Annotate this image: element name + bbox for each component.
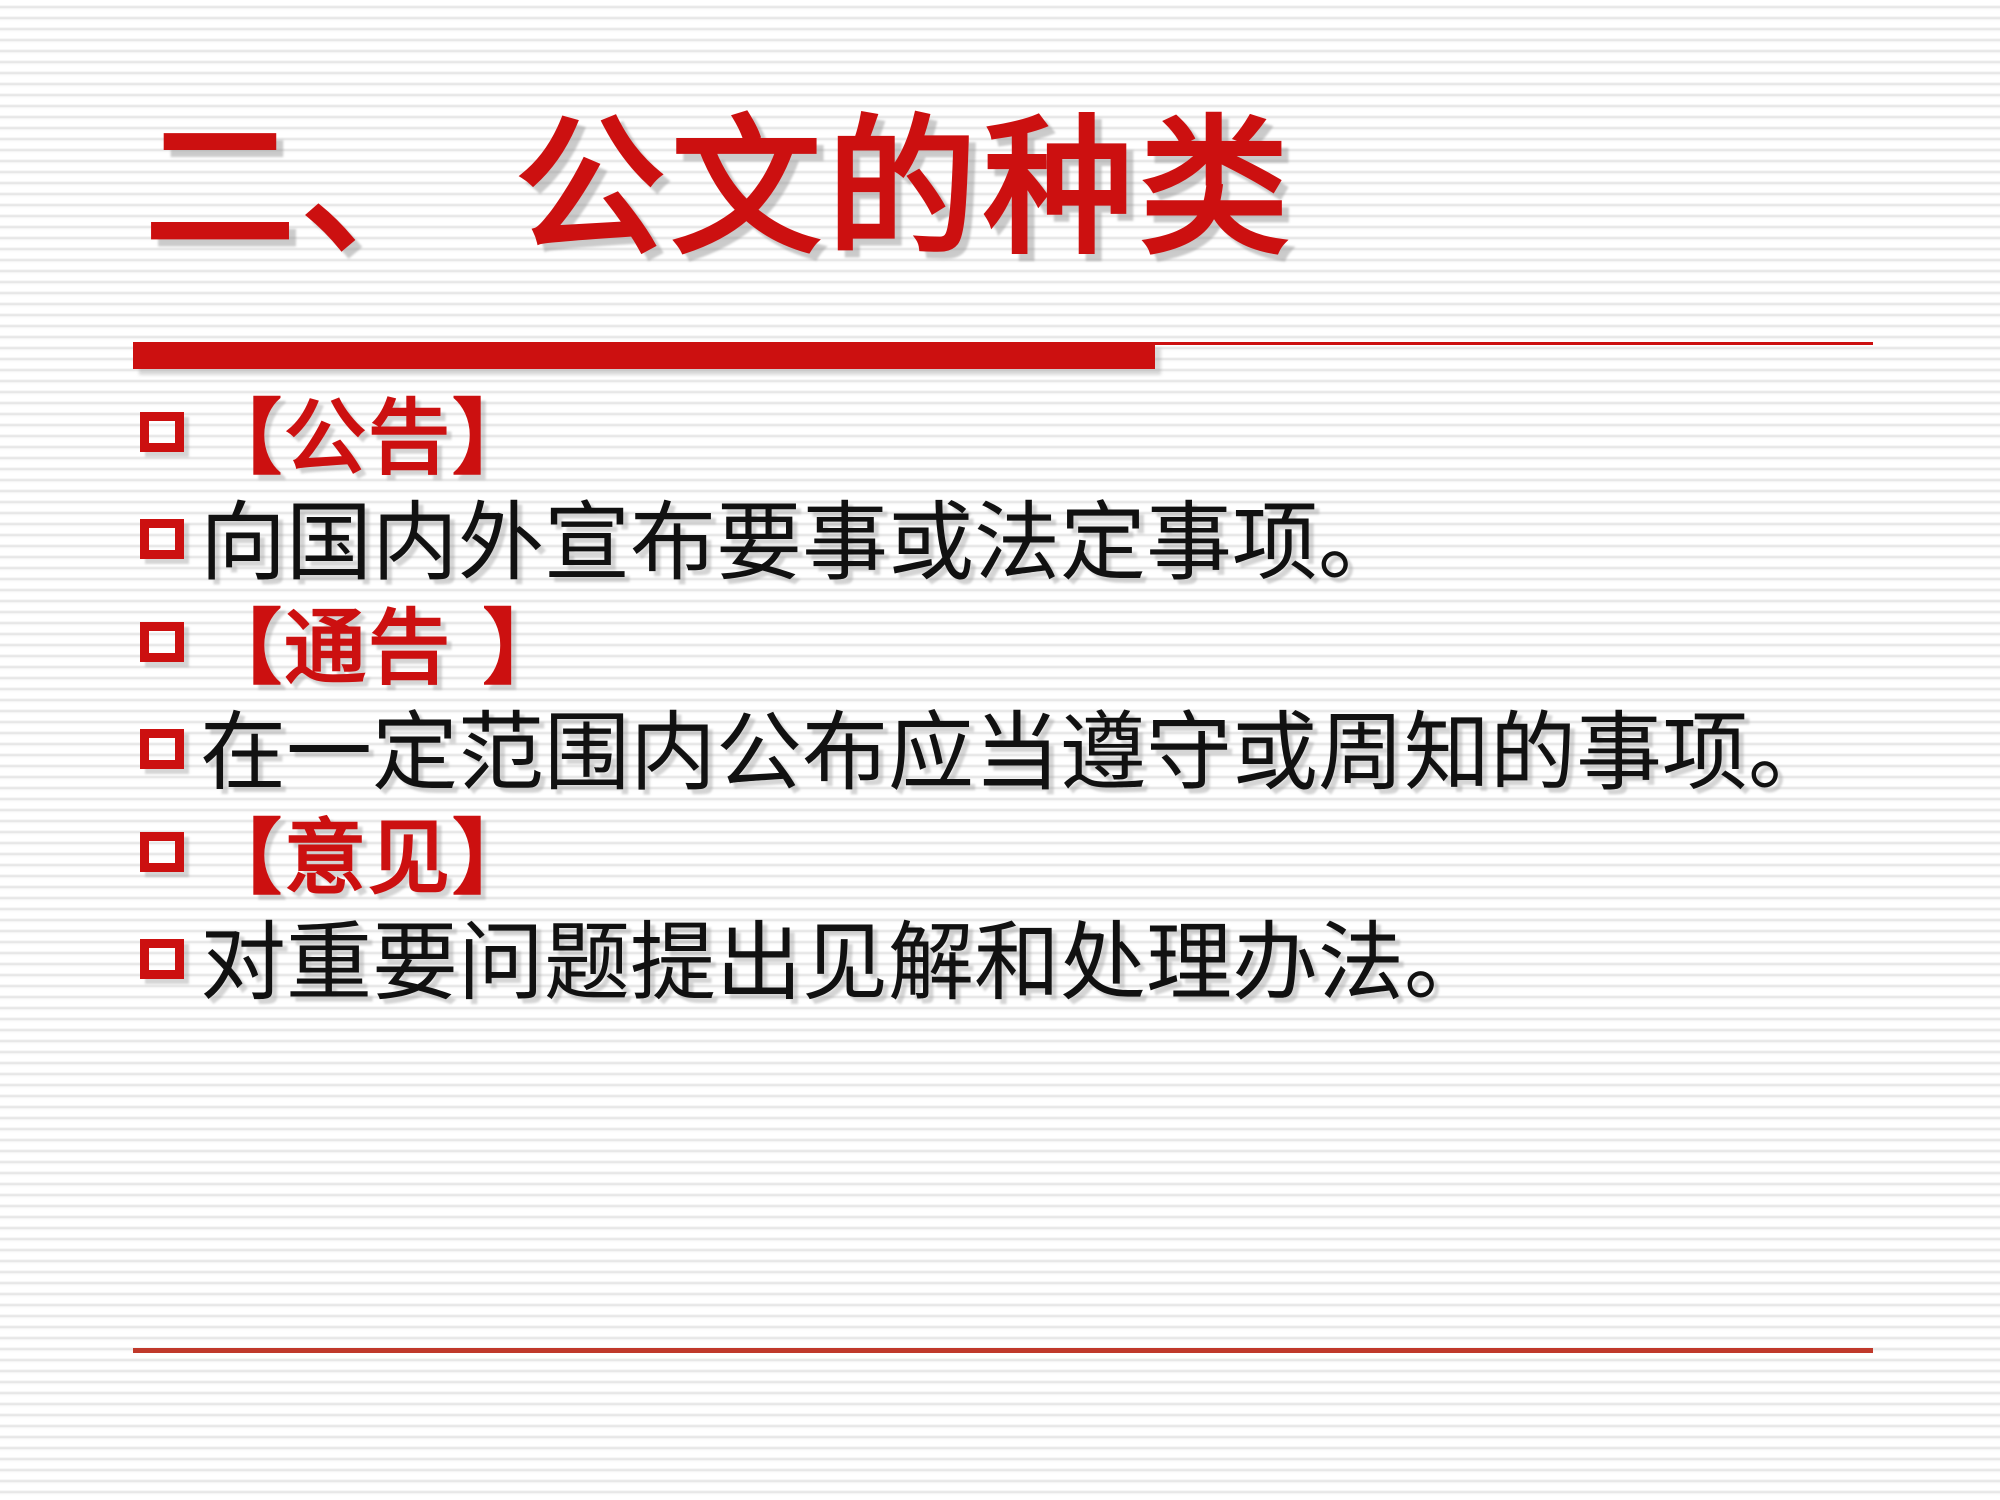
list-item-label: 【意见】: [200, 810, 1900, 907]
list-item: 向国内外宣布要事或法定事项。: [140, 493, 1900, 594]
list-item-label: 向国内外宣布要事或法定事项。: [200, 493, 1900, 594]
list-item: 【意见】: [140, 810, 1900, 907]
square-bullet-icon: [140, 412, 184, 452]
list-item-label: 【公告】: [200, 390, 1900, 487]
square-bullet-icon: [140, 519, 184, 559]
list-item-label: 【通告 】: [200, 600, 1900, 697]
square-bullet-icon: [140, 622, 184, 662]
square-bullet-icon: [140, 729, 184, 769]
list-item: 【通告 】: [140, 600, 1900, 697]
bullet-list: 【公告】 向国内外宣布要事或法定事项。 【通告 】 在一定范围内公布应当遵守或周…: [140, 390, 1900, 1021]
list-item: 对重要问题提出见解和处理办法。: [140, 913, 1900, 1014]
page-title: 二、 公文的种类: [145, 110, 1295, 268]
list-item-label: 在一定范围内公布应当遵守或周知的事项。: [200, 703, 1840, 804]
bottom-divider: [133, 1348, 1873, 1353]
square-bullet-icon: [140, 832, 184, 872]
title-area: 二、 公文的种类: [0, 110, 2000, 268]
list-item-label: 对重要问题提出见解和处理办法。: [200, 913, 1900, 1014]
list-item: 【公告】: [140, 390, 1900, 487]
slide-canvas: 二、 公文的种类 【公告】 向国内外宣布要事或法定事项。 【通告 】 在一定范围…: [0, 0, 2000, 1500]
square-bullet-icon: [140, 939, 184, 979]
title-divider-thick: [133, 342, 1155, 369]
list-item: 在一定范围内公布应当遵守或周知的事项。: [140, 703, 1900, 804]
